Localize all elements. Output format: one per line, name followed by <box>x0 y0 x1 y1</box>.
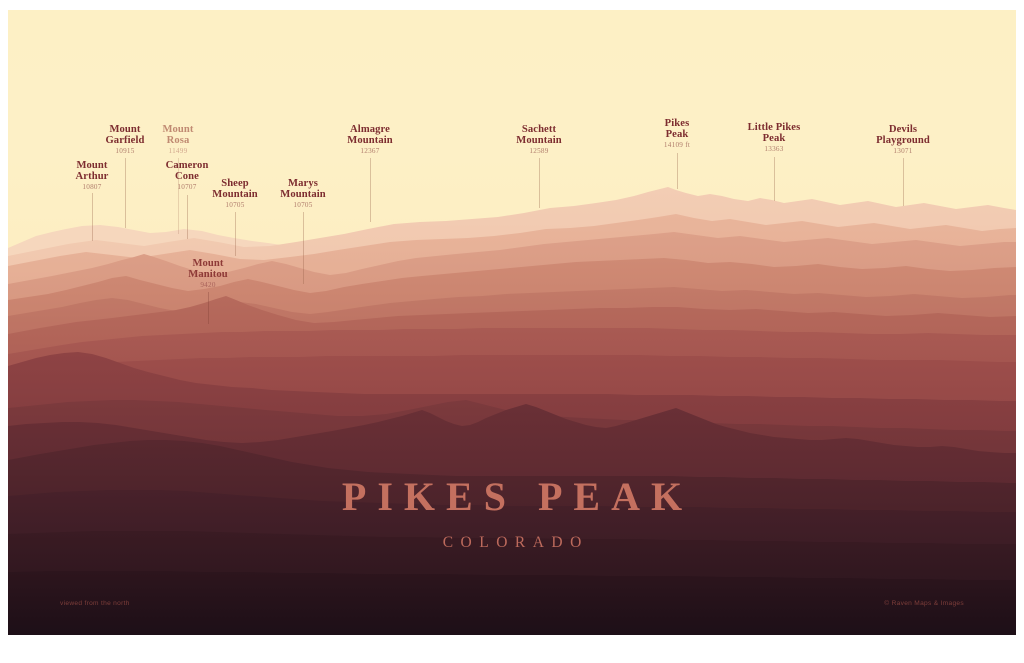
peak-name-mount-rosa: Mount Rosa <box>128 124 228 146</box>
peak-name-mount-arthur: Mount Arthur <box>42 160 142 182</box>
peak-label-pikes-peak: Pikes Peak 14109 ft <box>627 118 727 150</box>
peak-elevation-devils-playground: 13071 <box>848 148 958 156</box>
leader-line-mount-arthur <box>92 193 93 241</box>
peak-name-little-pikes-peak: Little Pikes Peak <box>719 122 829 144</box>
peak-label-marys-mountain: Marys Mountain 10705 <box>253 178 353 210</box>
peak-name-almagre-mountain: Almagre Mountain <box>320 124 420 146</box>
poster-subtitle: COLORADO <box>8 534 1016 552</box>
peak-name-sachett-mountain: Sachett Mountain <box>489 124 589 146</box>
peak-label-almagre-mountain: Almagre Mountain 12367 <box>320 124 420 156</box>
peak-name-pikes-peak: Pikes Peak <box>627 118 727 140</box>
peak-name-mount-manitou: Mount Manitou <box>158 258 258 280</box>
peak-label-sachett-mountain: Sachett Mountain 12589 <box>489 124 589 156</box>
leader-line-little-pikes-peak <box>774 157 775 201</box>
peak-name-devils-playground: Devils Playground <box>848 124 958 146</box>
poster-canvas: Mount Arthur 10807 Mount Garfield 10915 … <box>8 10 1016 635</box>
peak-elevation-little-pikes-peak: 13363 <box>719 146 829 154</box>
peak-elevation-mount-manitou: 9420 <box>158 282 258 290</box>
leader-line-almagre-mountain <box>370 158 371 222</box>
peak-elevation-almagre-mountain: 12367 <box>320 148 420 156</box>
peak-label-mount-rosa: Mount Rosa 11499 <box>128 124 228 156</box>
peak-elevation-pikes-peak: 14109 ft <box>627 142 727 150</box>
leader-line-pikes-peak <box>677 153 678 189</box>
peak-label-mount-arthur: Mount Arthur 10807 <box>42 160 142 192</box>
footer-viewpoint-note: viewed from the north <box>60 600 130 607</box>
peak-elevation-mount-rosa: 11499 <box>128 148 228 156</box>
poster-title: PIKES PEAK <box>8 473 1016 520</box>
leader-line-sachett-mountain <box>539 158 540 208</box>
footer-copyright: © Raven Maps & Images <box>884 600 964 607</box>
peak-elevation-marys-mountain: 10705 <box>253 202 353 210</box>
peak-label-mount-manitou: Mount Manitou 9420 <box>158 258 258 290</box>
peak-name-marys-mountain: Marys Mountain <box>253 178 353 200</box>
peak-label-devils-playground: Devils Playground 13071 <box>848 124 958 156</box>
peak-elevation-mount-arthur: 10807 <box>42 184 142 192</box>
leader-line-devils-playground <box>903 158 904 206</box>
leader-line-sheep-mountain <box>235 212 236 256</box>
peak-label-little-pikes-peak: Little Pikes Peak 13363 <box>719 122 829 154</box>
leader-line-mount-manitou <box>208 292 209 324</box>
peak-elevation-sachett-mountain: 12589 <box>489 148 589 156</box>
leader-line-marys-mountain <box>303 212 304 284</box>
